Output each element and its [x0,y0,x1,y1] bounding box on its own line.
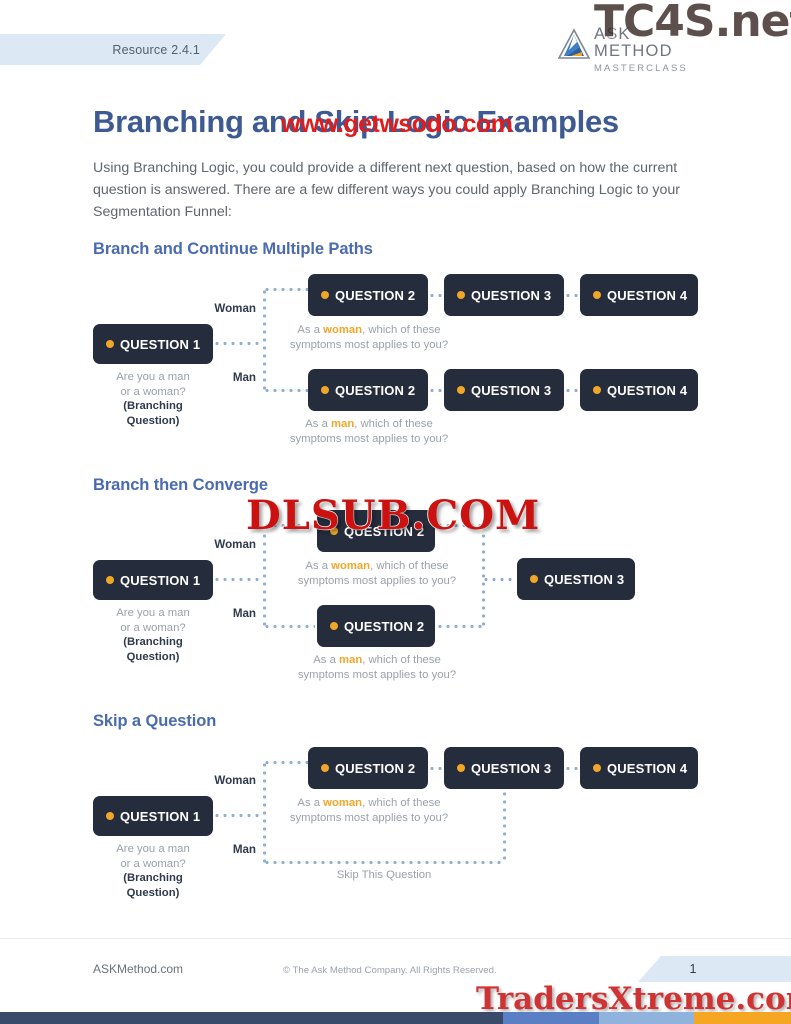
connector-q1-out-s1 [205,342,263,345]
page-number: 1 [638,956,748,982]
caption-line-bold: (Branching [123,636,183,648]
bullet-dot-icon [593,764,601,772]
caption-highlight: man [331,418,354,430]
connector-to-woman-q2-s2 [263,524,315,527]
caption-line: , which of these [362,324,441,336]
question-box-q3-s3[interactable]: QUESTION 3 [444,747,564,789]
caption-woman-s3: As a woman, which of these symptoms most… [285,796,453,825]
question-box-q2-man-s2[interactable]: QUESTION 2 [317,605,435,647]
connector-vertical-merge-s2 [482,524,485,626]
bullet-dot-icon [457,386,465,394]
caption-line: or a woman? [120,622,185,634]
question-box-q1-s3[interactable]: QUESTION 1 [93,796,213,836]
connector-woman-q2-to-merge-s2 [428,524,482,527]
caption-skip-this-question: Skip This Question [300,868,468,883]
logo-title: ASK METHOD [594,26,708,60]
question-box-label: QUESTION 2 [335,288,415,303]
logo-subtitle: MASTERCLASS [594,62,708,75]
caption-line: As a [297,324,323,336]
branch-label-woman-s3: Woman [178,774,256,787]
question-box-label: QUESTION 4 [607,761,687,776]
question-box-label: QUESTION 1 [120,337,200,352]
question-box-q2-woman-s2[interactable]: QUESTION 2 [317,510,435,552]
question-box-label: QUESTION 4 [607,288,687,303]
caption-line: Are you a man [116,843,189,855]
caption-branching-q1-s1: Are you a man or a woman? (Branching Que… [88,370,218,428]
resource-label: Resource 2.4.1 [0,34,214,65]
question-box-label: QUESTION 2 [335,383,415,398]
caption-branching-q1-s2: Are you a man or a woman? (Branching Que… [88,606,218,664]
caption-highlight: woman [323,797,362,809]
question-box-label: QUESTION 3 [471,288,551,303]
caption-line: , which of these [362,654,441,666]
ask-method-logo: ASK METHOD MASTERCLASS [558,24,708,64]
caption-line: As a [313,654,339,666]
connector-to-man-q2-s2 [263,625,315,628]
connector-merge-to-q3-s2 [482,578,516,581]
bullet-dot-icon [530,575,538,583]
caption-line: As a [297,797,323,809]
question-box-q3-man-s1[interactable]: QUESTION 3 [444,369,564,411]
caption-line: As a [305,560,331,572]
caption-line: symptoms most applies to you? [290,339,448,351]
connector-skip-horizontal-s3 [263,861,505,864]
caption-highlight: man [339,654,362,666]
bottom-bar-segment-2 [503,1012,599,1024]
question-box-label: QUESTION 1 [120,573,200,588]
question-box-q1-s1[interactable]: QUESTION 1 [93,324,213,364]
bullet-dot-icon [321,386,329,394]
page-title: Branching and Skip Logic Examples [93,104,713,140]
question-box-label: QUESTION 3 [544,572,624,587]
bottom-bar-segment-1 [0,1012,503,1024]
question-box-q4-man-s1[interactable]: QUESTION 4 [580,369,698,411]
question-box-label: QUESTION 2 [344,619,424,634]
caption-line-bold: Question) [127,651,180,663]
bullet-dot-icon [457,291,465,299]
branch-label-woman-s1: Woman [178,302,256,315]
bullet-dot-icon [593,386,601,394]
caption-line: symptoms most applies to you? [298,575,456,587]
caption-line: symptoms most applies to you? [290,812,448,824]
caption-line: symptoms most applies to you? [298,669,456,681]
footer-site-label: ASKMethod.com [93,962,183,976]
caption-highlight: woman [331,560,370,572]
caption-line: , which of these [354,418,433,430]
caption-line-bold: Question) [127,887,180,899]
question-box-label: QUESTION 4 [607,383,687,398]
branch-label-woman-s2: Woman [178,538,256,551]
question-box-q2-woman-s1[interactable]: QUESTION 2 [308,274,428,316]
bullet-dot-icon [321,764,329,772]
caption-man-s1: As a man, which of these symptoms most a… [285,417,453,446]
question-box-q2-man-s1[interactable]: QUESTION 2 [308,369,428,411]
question-box-q3-s2[interactable]: QUESTION 3 [517,558,635,600]
caption-highlight: woman [323,324,362,336]
connector-vertical-split-s2 [263,524,266,626]
section-heading-branch-converge: Branch then Converge [93,476,268,495]
footer-copyright: © The Ask Method Company. All Rights Res… [283,965,497,976]
caption-line: , which of these [362,797,441,809]
bottom-bar-segment-4 [694,1012,791,1024]
section-heading-skip-question: Skip a Question [93,712,216,731]
caption-line-bold: Question) [127,415,180,427]
caption-woman-s1: As a woman, which of these symptoms most… [285,323,453,352]
bottom-bar-segment-3 [599,1012,695,1024]
intro-paragraph: Using Branching Logic, you could provide… [93,157,693,223]
caption-branching-q1-s3: Are you a man or a woman? (Branching Que… [88,842,218,900]
bullet-dot-icon [106,576,114,584]
bullet-dot-icon [106,812,114,820]
bullet-dot-icon [106,340,114,348]
question-box-q2-s3[interactable]: QUESTION 2 [308,747,428,789]
triangle-mountain-icon [558,28,590,60]
bullet-dot-icon [330,622,338,630]
caption-line: As a [305,418,331,430]
footer-divider [0,938,791,939]
question-box-q1-s2[interactable]: QUESTION 1 [93,560,213,600]
caption-man-s2: As a man, which of these symptoms most a… [293,653,461,682]
connector-vertical-split-s3 [263,761,266,863]
caption-line-bold: (Branching [123,400,183,412]
bullet-dot-icon [321,291,329,299]
bullet-dot-icon [457,764,465,772]
section-heading-branch-continue: Branch and Continue Multiple Paths [93,240,373,259]
caption-line: , which of these [370,560,449,572]
question-box-label: QUESTION 2 [344,524,424,539]
connector-q1-out-s2 [205,578,263,581]
caption-line: symptoms most applies to you? [290,433,448,445]
question-box-label: QUESTION 3 [471,761,551,776]
connector-man-q2-to-merge-s2 [428,625,482,628]
caption-line: Are you a man [116,371,189,383]
bottom-color-bar [0,1012,791,1024]
caption-line: or a woman? [120,386,185,398]
question-box-q3-woman-s1[interactable]: QUESTION 3 [444,274,564,316]
caption-line-bold: (Branching [123,872,183,884]
logo-text-block: ASK METHOD MASTERCLASS [594,26,708,75]
caption-line: or a woman? [120,858,185,870]
connector-skip-up-to-q3-s3 [503,790,506,863]
question-box-label: QUESTION 3 [471,383,551,398]
question-box-q4-woman-s1[interactable]: QUESTION 4 [580,274,698,316]
caption-line: Are you a man [116,607,189,619]
caption-woman-s2: As a woman, which of these symptoms most… [293,559,461,588]
question-box-label: QUESTION 1 [120,809,200,824]
question-box-label: QUESTION 2 [335,761,415,776]
question-box-q4-s3[interactable]: QUESTION 4 [580,747,698,789]
bullet-dot-icon [593,291,601,299]
connector-vertical-split-s1 [263,288,266,390]
bullet-dot-icon [330,527,338,535]
connector-q1-out-s3 [205,814,263,817]
